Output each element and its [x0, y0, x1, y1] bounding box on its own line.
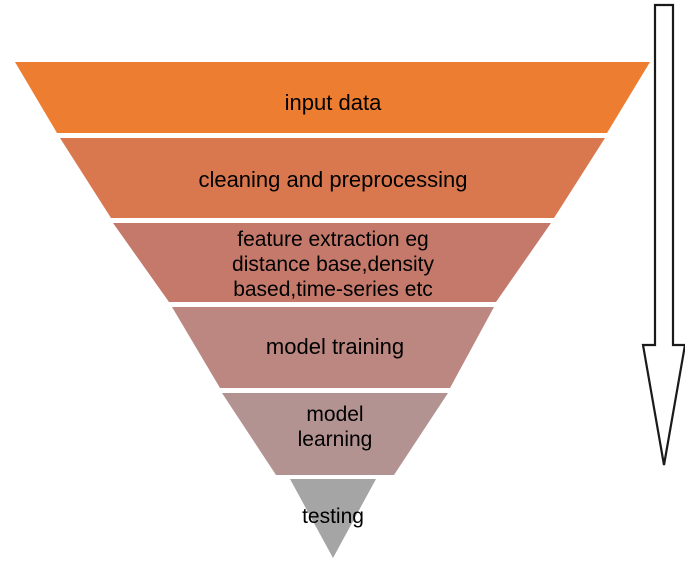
funnel-segment-feature-extraction[interactable] — [113, 223, 551, 302]
funnel-segment-model-training[interactable] — [172, 307, 494, 388]
funnel-segment-testing[interactable] — [290, 479, 376, 558]
funnel-segment-input-data[interactable] — [15, 62, 650, 133]
funnel-diagram-canvas: input data cleaning and preprocessing fe… — [0, 0, 685, 562]
flow-direction-arrow-icon — [643, 5, 685, 465]
funnel-shapes — [0, 0, 685, 562]
funnel-segment-cleaning-and-preprocessing[interactable] — [60, 138, 605, 218]
funnel-segment-model-learning[interactable] — [222, 393, 448, 475]
